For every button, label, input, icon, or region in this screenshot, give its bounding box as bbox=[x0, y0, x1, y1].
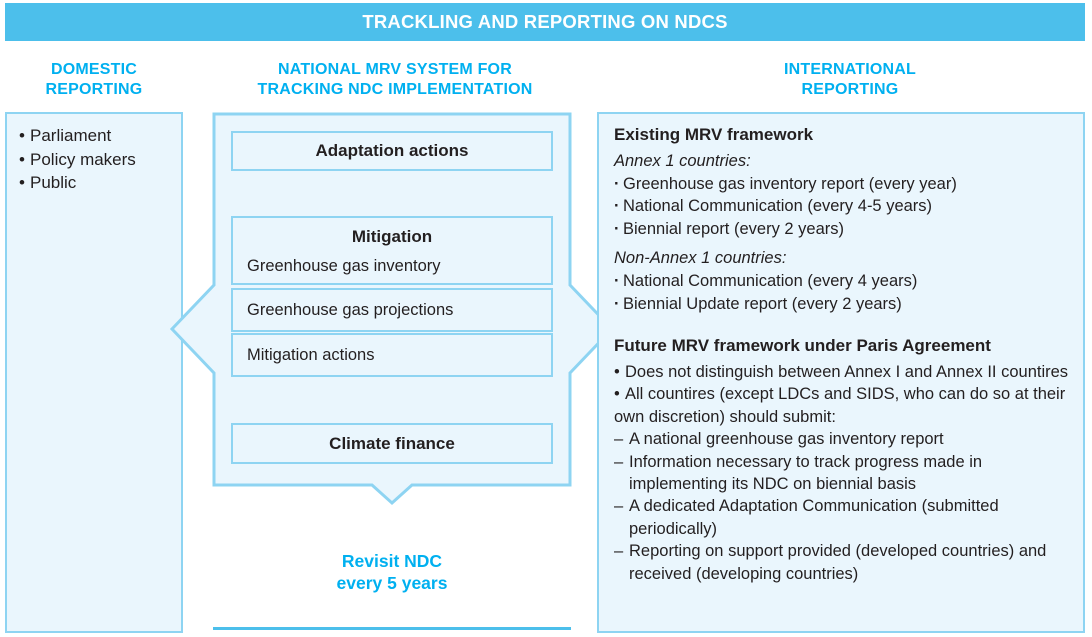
future-bullet-submit: All countires (except LDCs and SIDS, who… bbox=[614, 383, 1070, 428]
revisit-ndc-note: Revisit NDC every 5 years bbox=[213, 550, 571, 594]
domestic-audience-list: Parliament Policy makers Public bbox=[19, 124, 169, 195]
non-annex1-list: National Communication (every 4 years) B… bbox=[614, 270, 1070, 315]
mitigation-item-actions: Mitigation actions bbox=[231, 333, 553, 377]
list-item: Parliament bbox=[19, 124, 169, 148]
adaptation-actions-label: Adaptation actions bbox=[315, 140, 468, 162]
list-item: A dedicated Adaptation Communication (su… bbox=[614, 495, 1070, 540]
future-framework-title: Future MRV framework under Paris Agreeme… bbox=[614, 334, 1070, 357]
submission-requirements-list: A national greenhouse gas inventory repo… bbox=[614, 428, 1070, 585]
future-bullet-annex-text: Does not distinguish between Annex I and… bbox=[614, 363, 1068, 381]
annex1-label: Annex 1 countries: bbox=[614, 150, 1070, 173]
future-bullet-submit-text: All countires (except LDCs and SIDS, who… bbox=[614, 385, 1065, 425]
list-item: Greenhouse gas inventory report (every y… bbox=[614, 173, 1070, 195]
list-item: National Communication (every 4-5 years) bbox=[614, 195, 1070, 217]
mitigation-label: Mitigation bbox=[233, 226, 551, 248]
column-heading-national-mrv: NATIONAL MRV SYSTEM FOR TRACKING NDC IMP… bbox=[200, 60, 590, 100]
spacer bbox=[614, 315, 1070, 334]
list-item: Biennial Update report (every 2 years) bbox=[614, 293, 1070, 315]
non-annex1-label: Non-Annex 1 countries: bbox=[614, 247, 1070, 270]
list-item: Public bbox=[19, 171, 169, 195]
column-heading-international: INTERNATIONAL REPORTING bbox=[640, 60, 1060, 100]
annex1-list: Greenhouse gas inventory report (every y… bbox=[614, 173, 1070, 240]
mitigation-item-projections: Greenhouse gas projections bbox=[231, 288, 553, 332]
diagram-title-bar: TRACKLING AND REPORTING ON NDCS bbox=[5, 3, 1085, 41]
climate-finance-label: Climate finance bbox=[329, 433, 455, 455]
mitigation-box: Mitigation Greenhouse gas inventory bbox=[231, 216, 553, 285]
list-item: Biennial report (every 2 years) bbox=[614, 218, 1070, 240]
future-bullet-annex: Does not distinguish between Annex I and… bbox=[614, 361, 1070, 383]
existing-framework-title: Existing MRV framework bbox=[614, 123, 1070, 146]
list-item: Policy makers bbox=[19, 148, 169, 172]
list-item: Information necessary to track progress … bbox=[614, 451, 1070, 496]
column-heading-domestic: DOMESTIC REPORTING bbox=[5, 60, 183, 100]
domestic-reporting-panel: Parliament Policy makers Public bbox=[5, 112, 183, 633]
adaptation-actions-box: Adaptation actions bbox=[231, 131, 553, 171]
international-reporting-panel: Existing MRV framework Annex 1 countries… bbox=[597, 112, 1085, 633]
bottom-divider-rule bbox=[213, 627, 571, 630]
spacer bbox=[614, 240, 1070, 247]
list-item: A national greenhouse gas inventory repo… bbox=[614, 428, 1070, 450]
revisit-ndc-line1: Revisit NDC bbox=[213, 550, 571, 572]
climate-finance-box: Climate finance bbox=[231, 423, 553, 464]
revisit-ndc-line2: every 5 years bbox=[213, 572, 571, 594]
diagram-title: TRACKLING AND REPORTING ON NDCS bbox=[362, 11, 727, 33]
mitigation-item-inventory: Greenhouse gas inventory bbox=[233, 255, 551, 277]
list-item: National Communication (every 4 years) bbox=[614, 270, 1070, 292]
list-item: Reporting on support provided (developed… bbox=[614, 540, 1070, 585]
